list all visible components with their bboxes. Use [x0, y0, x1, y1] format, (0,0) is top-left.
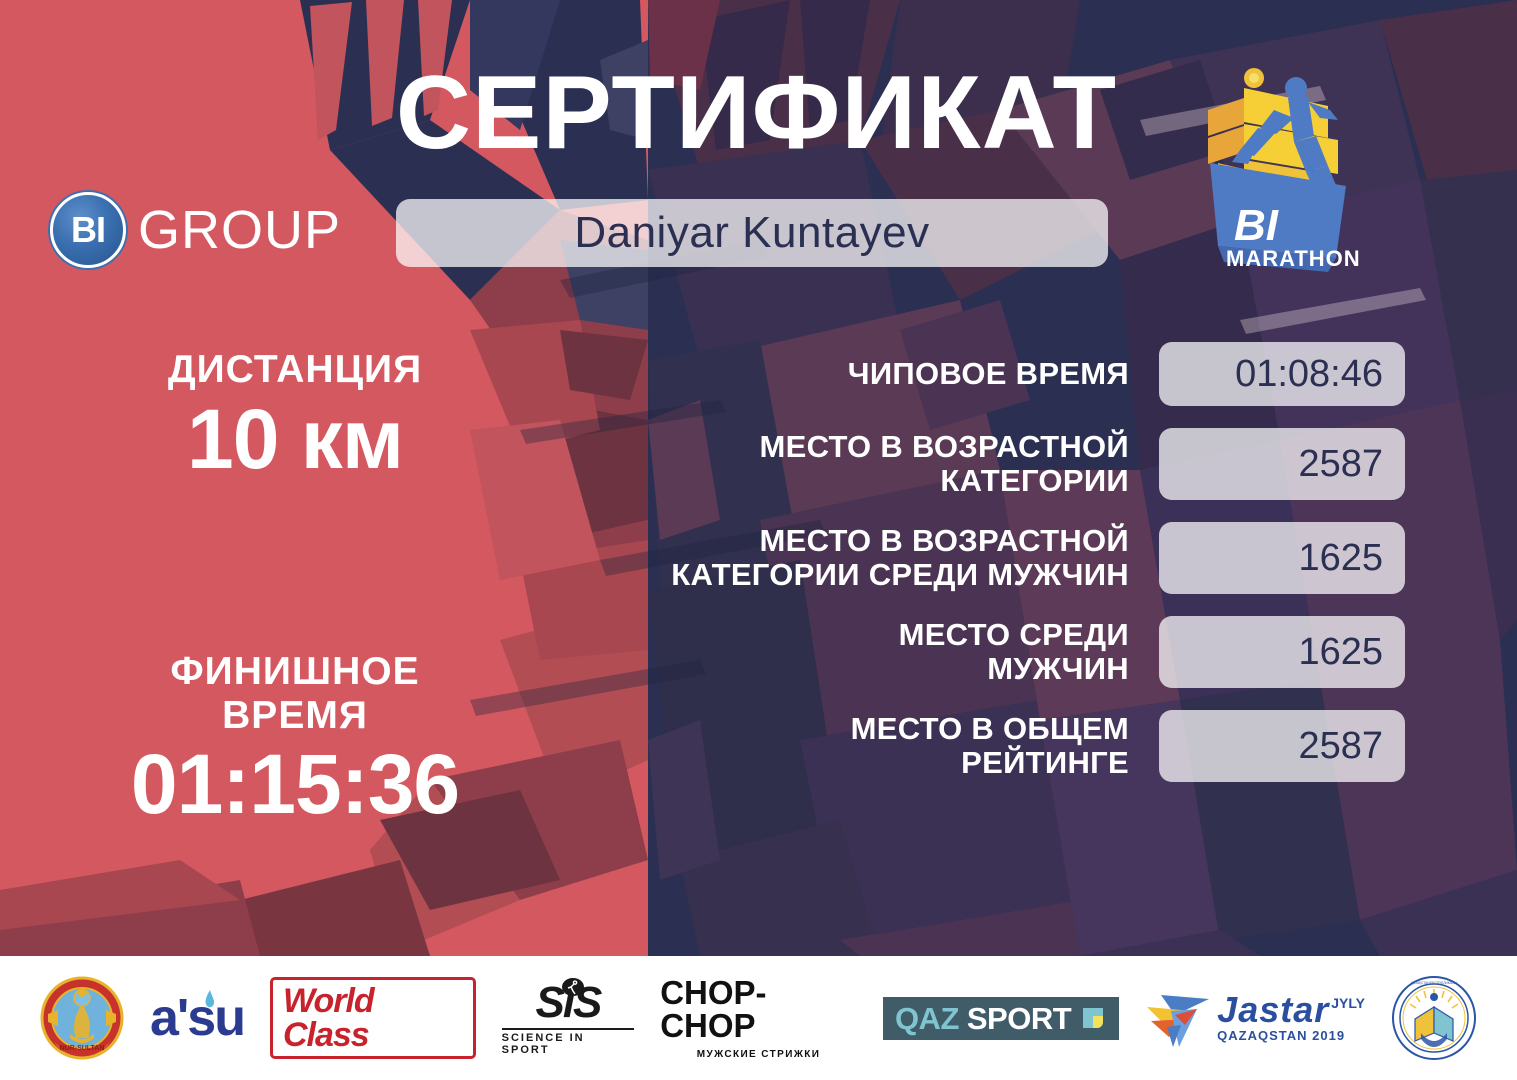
- jastar-logo-text: Jastar: [1217, 993, 1329, 1027]
- stat-row-age-category-men-place: МЕСТО В ВОЗРАСТНОЙ КАТЕГОРИИ СРЕДИ МУЖЧИ…: [560, 522, 1405, 594]
- distance-block: ДИСТАНЦИЯ 10 км: [75, 348, 515, 484]
- stat-value: 01:08:46: [1159, 342, 1405, 406]
- chop-chop-logo: CHOP-CHOP МУЖСКИЕ СТРИЖКИ: [660, 972, 857, 1064]
- asu-logo-text: a'su: [150, 989, 244, 1047]
- bi-group-logo: BI GROUP: [50, 192, 341, 268]
- bi-marathon-line1: BI: [1234, 201, 1279, 250]
- distance-value: 10 км: [75, 394, 515, 485]
- stat-label: МЕСТО СРЕДИ МУЖЧИН: [560, 618, 1159, 686]
- nur-sultan-caption: NUR-SULTAN: [60, 1045, 105, 1052]
- finish-time-value: 01:15:36: [75, 739, 515, 830]
- asu-droplet-icon: [202, 990, 218, 1010]
- ministry-emblem-caption: ҚАЗАҚСТАН РЕСПУБЛИКАСЫ: [1411, 981, 1457, 985]
- finish-time-label: ФИНИШНОЕ ВРЕМЯ: [75, 650, 515, 737]
- stat-value: 2587: [1159, 710, 1405, 782]
- world-class-logo: World Class: [270, 972, 476, 1064]
- participant-name: Daniyar Kuntayev: [574, 208, 929, 258]
- stat-label: ЧИПОВОЕ ВРЕМЯ: [560, 357, 1159, 391]
- stat-row-overall-place: МЕСТО В ОБЩЕМ РЕЙТИНГЕ 2587: [560, 710, 1405, 782]
- jastar-bird-icon: [1145, 985, 1213, 1051]
- sis-logo-subtitle: SCIENCE IN SPORT: [502, 1028, 635, 1056]
- jastar-logo-subtitle: QAZAQSTAN 2019: [1217, 1028, 1345, 1043]
- sponsor-bar: NUR-SULTAN a'su World Class SiS: [0, 956, 1517, 1080]
- nur-sultan-emblem-icon: NUR-SULTAN: [40, 972, 124, 1064]
- stats-list: ЧИПОВОЕ ВРЕМЯ 01:08:46 МЕСТО В ВОЗРАСТНО…: [560, 342, 1405, 804]
- sis-runner-icon: [562, 977, 584, 997]
- bi-group-label: GROUP: [138, 199, 341, 261]
- bi-badge-icon: BI: [50, 192, 126, 268]
- qazsport-logo: QAZ SPORT: [883, 972, 1119, 1064]
- stat-value: 1625: [1159, 616, 1405, 688]
- finish-time-block: ФИНИШНОЕ ВРЕМЯ 01:15:36: [75, 650, 515, 830]
- stat-value: 2587: [1159, 428, 1405, 500]
- stat-value: 1625: [1159, 522, 1405, 594]
- world-class-logo-text: World Class: [283, 984, 463, 1052]
- bi-marathon-logo: BI MARATHON: [1178, 58, 1368, 288]
- bi-badge-label: BI: [71, 212, 105, 248]
- chop-chop-logo-subtitle: МУЖСКИЕ СТРИЖКИ: [697, 1049, 821, 1060]
- stat-row-chip-time: ЧИПОВОЕ ВРЕМЯ 01:08:46: [560, 342, 1405, 406]
- qazsport-logo-text-a: QAZ: [895, 1003, 959, 1034]
- stat-label: МЕСТО В ВОЗРАСТНОЙ КАТЕГОРИИ: [560, 430, 1159, 498]
- jastar-logo: Jastar JYLY QAZAQSTAN 2019: [1145, 972, 1365, 1064]
- distance-label: ДИСТАНЦИЯ: [75, 348, 515, 392]
- qazsport-mark-icon: [1079, 1004, 1107, 1032]
- qazsport-logo-text-b: SPORT: [967, 1003, 1071, 1034]
- asu-logo: a'su: [150, 972, 244, 1064]
- bi-marathon-logo-svg: BI MARATHON: [1178, 58, 1368, 288]
- ministry-of-culture-and-sport-emblem-icon: ҚАЗАҚСТАН РЕСПУБЛИКАСЫ: [1391, 972, 1477, 1064]
- stat-label: МЕСТО В ВОЗРАСТНОЙ КАТЕГОРИИ СРЕДИ МУЖЧИ…: [560, 524, 1159, 592]
- jastar-logo-superscript: JYLY: [1331, 995, 1365, 1011]
- participant-name-field[interactable]: Daniyar Kuntayev: [396, 199, 1108, 267]
- stat-row-age-category-place: МЕСТО В ВОЗРАСТНОЙ КАТЕГОРИИ 2587: [560, 428, 1405, 500]
- certificate-canvas: СЕРТИФИКАТ BI GROUP Daniyar Kuntayev: [0, 0, 1517, 1080]
- stat-label: МЕСТО В ОБЩЕМ РЕЙТИНГЕ: [560, 712, 1159, 780]
- stat-row-men-place: МЕСТО СРЕДИ МУЖЧИН 1625: [560, 616, 1405, 688]
- sis-logo: SiS SCIENCE IN SPORT: [502, 972, 635, 1064]
- chop-chop-logo-text: CHOP-CHOP: [660, 976, 857, 1042]
- bi-marathon-line2: MARATHON: [1226, 246, 1361, 271]
